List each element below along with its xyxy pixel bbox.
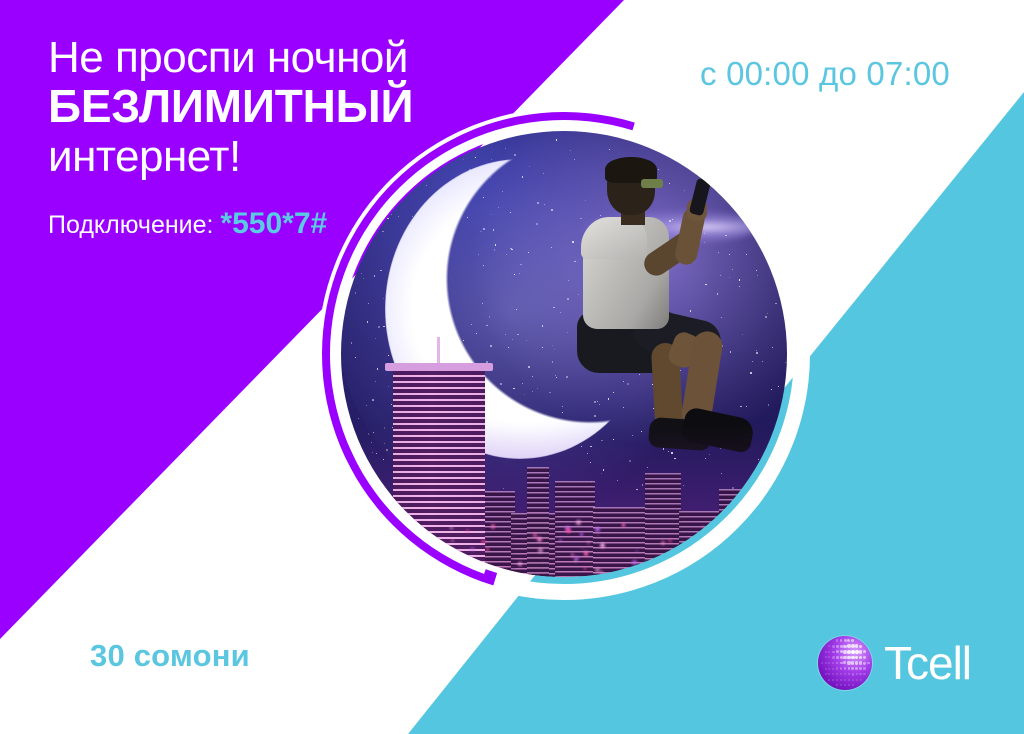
brand-wordmark: Tcell [884, 640, 971, 686]
tcell-disco-ball-icon [818, 636, 872, 690]
advertisement-banner: Не проспи ночной БЕЗЛИМИТНЫЙ интернет! П… [0, 0, 1024, 734]
offer-hours: с 00:00 до 07:00 [700, 55, 950, 93]
headline-line-3: интернет! [48, 133, 478, 181]
connect-label: Подключение: [48, 211, 213, 239]
figure-glasses-icon [641, 179, 663, 188]
night-sky-photo-circle [341, 131, 787, 577]
headline-line-2: БЕЗЛИМИТНЫЙ [48, 81, 478, 133]
city-tower-spire [437, 337, 440, 363]
brand-logo[interactable]: Tcell [818, 636, 971, 690]
night-city-skyline-icon [341, 367, 787, 577]
city-street-lights [341, 519, 787, 577]
ussd-code[interactable]: *550*7# [220, 207, 327, 240]
smartphone-icon [689, 178, 711, 216]
connect-instruction: Подключение: *550*7# [48, 207, 327, 241]
price-label: 30 сомони [90, 638, 250, 674]
headline-line-1: Не проспи ночной [48, 34, 478, 81]
city-tower-cap [385, 363, 493, 371]
headline: Не проспи ночной БЕЗЛИМИТНЫЙ интернет! [48, 34, 478, 181]
